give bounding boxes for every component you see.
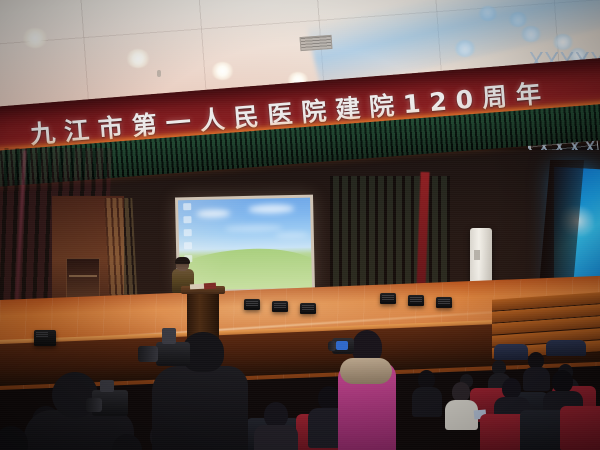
head <box>552 370 573 393</box>
torso <box>254 425 298 450</box>
camera-lens <box>138 346 158 362</box>
stage-monitor-speaker <box>300 303 316 314</box>
screen-glare <box>178 198 312 291</box>
camera-lens <box>328 341 336 351</box>
ceiling-downlight <box>126 49 150 68</box>
dslr-camera[interactable] <box>156 342 190 366</box>
speaker-hair <box>175 257 190 264</box>
camera-screen <box>336 341 348 350</box>
stage-monitor-speaker <box>244 299 260 310</box>
audience-area <box>0 330 600 450</box>
torso <box>412 387 442 417</box>
auditorium-seat <box>560 406 600 450</box>
auditorium-seat <box>546 340 586 356</box>
projection-screen <box>175 195 315 294</box>
auditorium-photo: 九江市第一人民医院建院120周年 <box>0 0 600 450</box>
camera-hotshoe <box>100 380 114 392</box>
photographer-torso <box>152 366 248 450</box>
camera-lens <box>86 398 102 412</box>
head <box>452 382 470 402</box>
stage-monitor-speaker <box>380 293 396 304</box>
torso <box>523 367 550 391</box>
lectern-folder <box>204 283 216 290</box>
projection-screen-image <box>178 198 312 291</box>
stage-monitor-speaker <box>436 297 452 308</box>
ceiling-downlight <box>22 28 48 48</box>
auditorium-seat <box>494 344 528 360</box>
head <box>502 378 521 399</box>
ceiling-downlight <box>211 62 234 80</box>
sprinkler-head <box>157 70 161 77</box>
fur-hood <box>340 358 392 384</box>
head <box>318 386 340 410</box>
head <box>0 426 28 450</box>
wood-panel-opening <box>66 258 100 300</box>
camera-flash <box>162 328 176 344</box>
stage-monitor-speaker <box>408 295 424 306</box>
stage-monitor-speaker <box>272 301 288 312</box>
ceiling-vent <box>300 35 333 51</box>
